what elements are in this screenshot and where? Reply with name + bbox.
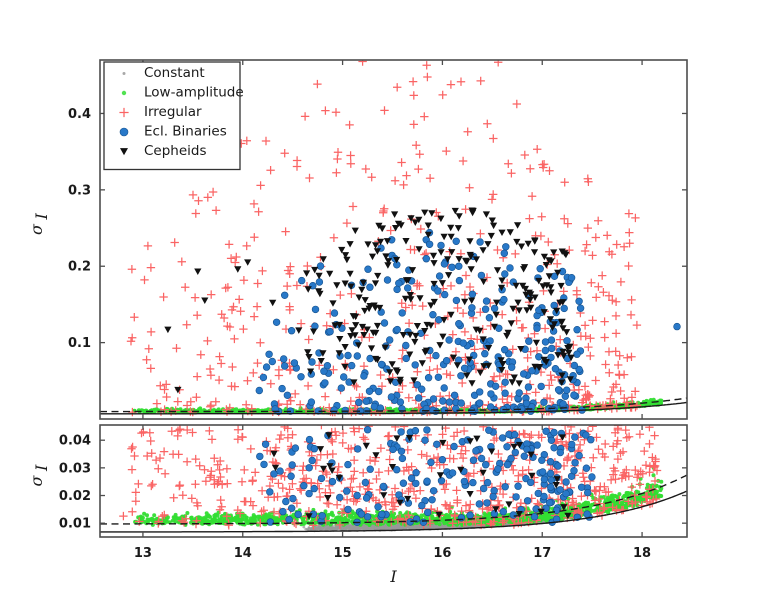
- data-point: [288, 327, 295, 334]
- data-point: [433, 352, 440, 359]
- data-point: [551, 302, 558, 309]
- data-point: [317, 263, 324, 270]
- data-point: [555, 386, 562, 393]
- data-point: [534, 325, 541, 332]
- data-point: [354, 353, 361, 360]
- data-point: [402, 342, 409, 349]
- data-point: [541, 399, 548, 406]
- data-point: [525, 338, 532, 345]
- data-point: [501, 271, 508, 278]
- data-point: [436, 273, 443, 280]
- data-point: [561, 305, 568, 312]
- data-point: [395, 280, 402, 287]
- data-point: [418, 386, 425, 393]
- data-point: [562, 393, 569, 400]
- data-point: [435, 374, 442, 381]
- data-point: [501, 250, 508, 257]
- data-point: [426, 241, 433, 248]
- data-point: [449, 264, 456, 271]
- data-point: [345, 352, 352, 359]
- data-point: [441, 385, 448, 392]
- data-point: [476, 389, 483, 396]
- data-point: [542, 339, 549, 346]
- data-point: [388, 394, 395, 401]
- data-point: [331, 407, 338, 414]
- data-point: [361, 373, 368, 380]
- data-point: [564, 337, 571, 344]
- data-point: [469, 291, 476, 298]
- data-point: [501, 346, 508, 353]
- data-point: [394, 286, 401, 293]
- data-point: [571, 362, 578, 369]
- data-point: [443, 357, 450, 364]
- data-point: [451, 392, 458, 399]
- data-point: [425, 374, 432, 381]
- data-point: [561, 406, 568, 413]
- data-point: [338, 385, 345, 392]
- data-point: [574, 351, 581, 358]
- data-point: [482, 306, 489, 313]
- figure-canvas: 0.10.20.30.40.010.020.030.04131415161718…: [0, 0, 761, 607]
- data-point: [446, 337, 453, 344]
- data-point: [550, 406, 557, 413]
- data-point: [312, 306, 319, 313]
- data-point: [355, 399, 362, 406]
- data-point: [298, 277, 305, 284]
- scatter-plot-svg: 0.10.20.30.40.010.020.030.04131415161718…: [0, 0, 761, 607]
- data-point: [256, 387, 263, 394]
- data-point: [502, 243, 509, 250]
- data-point: [404, 285, 411, 292]
- data-point: [441, 291, 448, 298]
- data-point: [394, 326, 401, 333]
- data-point: [441, 261, 448, 268]
- data-point: [266, 351, 273, 358]
- data-point: [197, 407, 201, 411]
- data-point: [281, 363, 288, 370]
- data-point: [342, 407, 349, 414]
- data-point: [568, 274, 575, 281]
- data-point: [542, 347, 549, 354]
- data-point: [348, 362, 355, 369]
- data-point: [458, 400, 465, 407]
- data-point: [502, 379, 509, 386]
- data-point: [501, 296, 508, 303]
- data-point: [269, 358, 276, 365]
- data-point: [491, 305, 498, 312]
- data-point: [525, 384, 532, 391]
- data-point: [548, 345, 555, 352]
- data-point: [415, 395, 422, 402]
- data-point: [308, 399, 315, 406]
- data-point: [155, 407, 159, 411]
- data-point: [486, 314, 493, 321]
- data-point: [375, 388, 382, 395]
- data-point: [423, 255, 430, 262]
- data-point: [508, 364, 515, 371]
- data-point: [371, 403, 378, 410]
- data-point: [316, 279, 323, 286]
- data-point: [458, 372, 465, 379]
- data-point: [478, 272, 485, 279]
- data-point: [520, 371, 527, 378]
- data-point: [516, 390, 523, 397]
- data-point: [298, 373, 305, 380]
- data-point: [571, 392, 578, 399]
- data-point: [460, 340, 467, 347]
- data-point: [469, 304, 476, 311]
- data-point: [309, 359, 316, 366]
- data-point: [412, 362, 419, 369]
- data-point: [257, 409, 261, 413]
- data-point: [492, 383, 499, 390]
- data-point: [477, 239, 484, 246]
- data-point: [658, 399, 662, 403]
- data-point: [327, 328, 334, 335]
- data-point: [381, 320, 388, 327]
- data-point: [273, 319, 280, 326]
- data-point: [456, 277, 463, 284]
- data-point: [453, 297, 460, 304]
- data-point: [439, 398, 446, 405]
- data-point: [483, 298, 490, 305]
- data-point: [674, 323, 681, 330]
- data-point: [399, 310, 406, 317]
- data-point: [260, 374, 267, 381]
- data-point: [279, 385, 286, 392]
- data-point: [455, 263, 462, 270]
- data-point: [280, 356, 287, 363]
- data-point: [365, 266, 372, 273]
- data-point: [574, 326, 581, 333]
- data-point: [430, 396, 437, 403]
- data-point: [461, 365, 468, 372]
- data-point: [263, 364, 270, 371]
- data-point: [577, 305, 584, 312]
- data-point: [367, 284, 374, 291]
- data-point: [502, 390, 509, 397]
- data-point: [366, 388, 373, 395]
- data-point: [563, 387, 570, 394]
- data-point: [537, 265, 544, 272]
- data-point: [535, 307, 542, 314]
- data-point: [291, 360, 298, 367]
- data-point: [488, 391, 495, 398]
- data-point: [552, 365, 559, 372]
- data-point: [321, 368, 328, 375]
- data-point: [455, 320, 462, 327]
- data-point: [538, 383, 545, 390]
- data-point: [507, 265, 514, 272]
- data-point: [363, 398, 370, 405]
- data-point: [576, 298, 583, 305]
- data-point: [331, 310, 338, 317]
- data-point: [481, 350, 488, 357]
- data-point: [438, 242, 445, 249]
- data-point: [435, 288, 442, 295]
- data-point: [340, 374, 347, 381]
- data-point: [403, 355, 410, 362]
- data-point: [284, 392, 291, 399]
- data-point: [453, 238, 460, 245]
- data-point: [386, 337, 393, 344]
- data-point: [322, 380, 329, 387]
- data-point: [430, 311, 437, 318]
- data-point: [384, 277, 391, 284]
- data-point: [281, 292, 288, 299]
- data-point: [446, 399, 453, 406]
- data-point: [476, 400, 483, 407]
